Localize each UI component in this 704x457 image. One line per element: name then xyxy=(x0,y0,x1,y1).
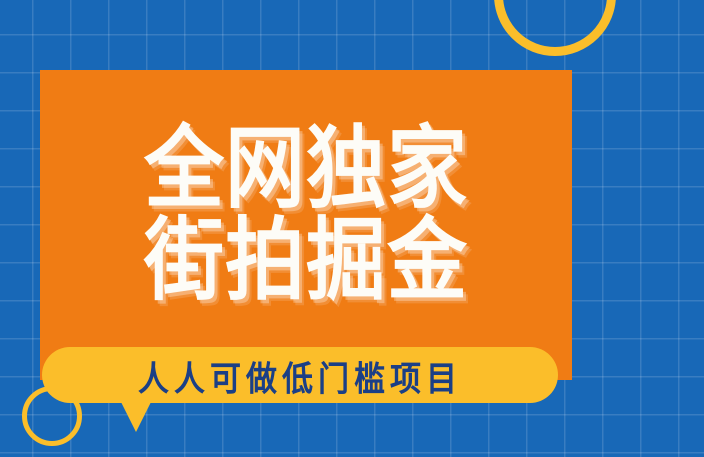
tagline-banner-body: 人人可做低门槛项目 xyxy=(42,347,558,403)
headline-block: 全网独家 街拍掘金 xyxy=(40,70,572,360)
tagline-banner: 人人可做低门槛项目 xyxy=(42,347,558,403)
headline-line-2: 街拍掘金 xyxy=(144,213,468,310)
tagline-text: 人人可做低门槛项目 xyxy=(138,350,462,400)
promo-poster: 全网独家 街拍掘金 人人可做低门槛项目 xyxy=(0,0,704,457)
speech-bubble-tail-icon xyxy=(120,400,152,432)
headline-line-1: 全网独家 xyxy=(144,120,468,217)
